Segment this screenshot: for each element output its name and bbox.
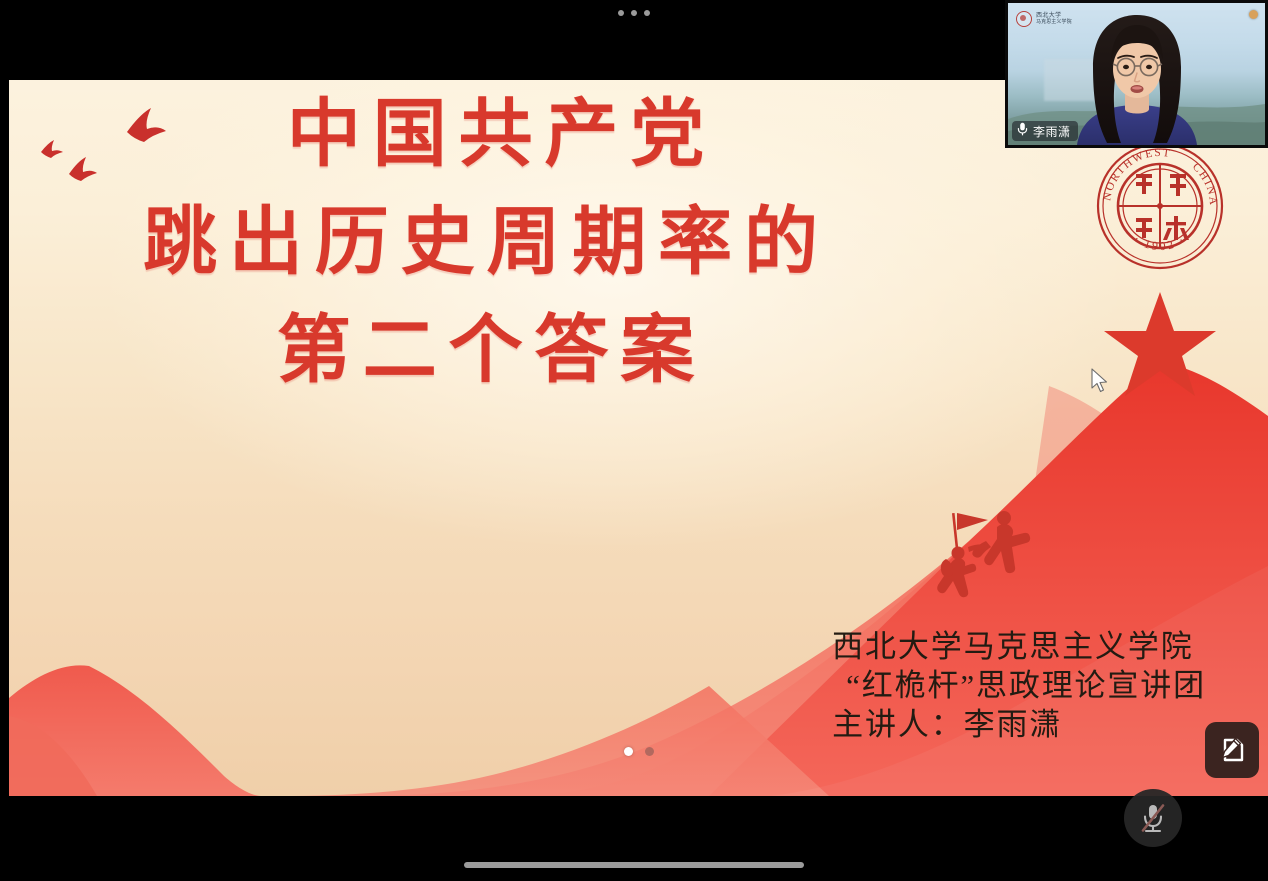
participant-video-image bbox=[1071, 11, 1203, 145]
watermark-line-1: 西北大学 bbox=[1036, 13, 1072, 19]
microphone-icon bbox=[1017, 122, 1028, 141]
handle-dot-1 bbox=[618, 10, 624, 16]
recording-indicator-dot bbox=[1249, 10, 1258, 19]
participant-name: 李雨潇 bbox=[1033, 123, 1070, 140]
mountain-climbers-icon bbox=[934, 485, 1064, 615]
slide-pagination[interactable] bbox=[624, 747, 654, 756]
pencil-note-icon bbox=[1217, 735, 1247, 765]
handle-dot-2 bbox=[631, 10, 637, 16]
slide-pagination-dot-1[interactable] bbox=[624, 747, 633, 756]
presentation-window: NORTHWEST CHINA · 1902 · 中国共产党 跳出历史周期率的 … bbox=[0, 0, 1268, 881]
red-star-icon bbox=[1103, 288, 1217, 398]
participant-nameplate: 李雨潇 bbox=[1012, 121, 1078, 141]
watermark-seal-icon bbox=[1016, 11, 1032, 27]
microphone-muted-icon bbox=[1139, 802, 1167, 834]
home-indicator[interactable] bbox=[464, 862, 804, 868]
university-seal-logo: NORTHWEST CHINA · 1902 · bbox=[1094, 140, 1226, 272]
handle-dot-3 bbox=[644, 10, 650, 16]
slide-pagination-dot-2[interactable] bbox=[645, 747, 654, 756]
presenter-credit-block: 西北大学马克思主义学院 “红桅杆”思政理论宣讲团 主讲人：李雨潇 bbox=[832, 627, 1206, 744]
slide-canvas[interactable]: NORTHWEST CHINA · 1902 · 中国共产党 跳出历史周期率的 … bbox=[9, 80, 1268, 796]
credit-team: “红桅杆”思政理论宣讲团 bbox=[846, 666, 1206, 705]
microphone-mute-button[interactable] bbox=[1124, 789, 1182, 847]
participant-video-tile[interactable]: 西北大学 马克思主义学院 bbox=[1005, 0, 1268, 148]
flying-birds-icon bbox=[31, 104, 211, 214]
watermark-line-2: 马克思主义学院 bbox=[1036, 20, 1072, 25]
credit-organization: 西北大学马克思主义学院 bbox=[832, 627, 1206, 666]
annotate-button[interactable] bbox=[1205, 722, 1259, 778]
video-watermark-logo: 西北大学 马克思主义学院 bbox=[1016, 11, 1072, 27]
credit-speaker: 主讲人：李雨潇 bbox=[832, 705, 1206, 744]
